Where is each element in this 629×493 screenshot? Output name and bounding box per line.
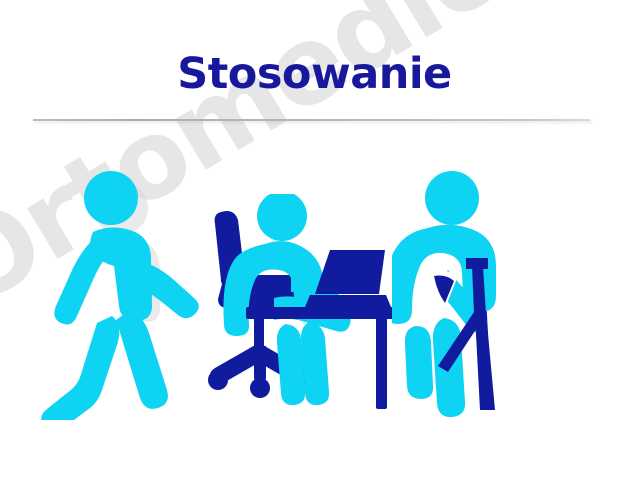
page-title: Stosowanie (0, 48, 629, 100)
title-divider (33, 119, 590, 121)
desk-figure (208, 194, 403, 409)
crutches-figure-icon (392, 166, 527, 428)
slide-canvas: Ortomedico.pl Stosowanie (0, 0, 629, 493)
walking-figure (38, 170, 208, 420)
illustration-group (0, 150, 629, 430)
walking-figure-icon (38, 170, 208, 420)
desk-figure-icon (208, 194, 403, 409)
crutches-figure (392, 166, 527, 428)
divider-shadow (35, 121, 592, 123)
